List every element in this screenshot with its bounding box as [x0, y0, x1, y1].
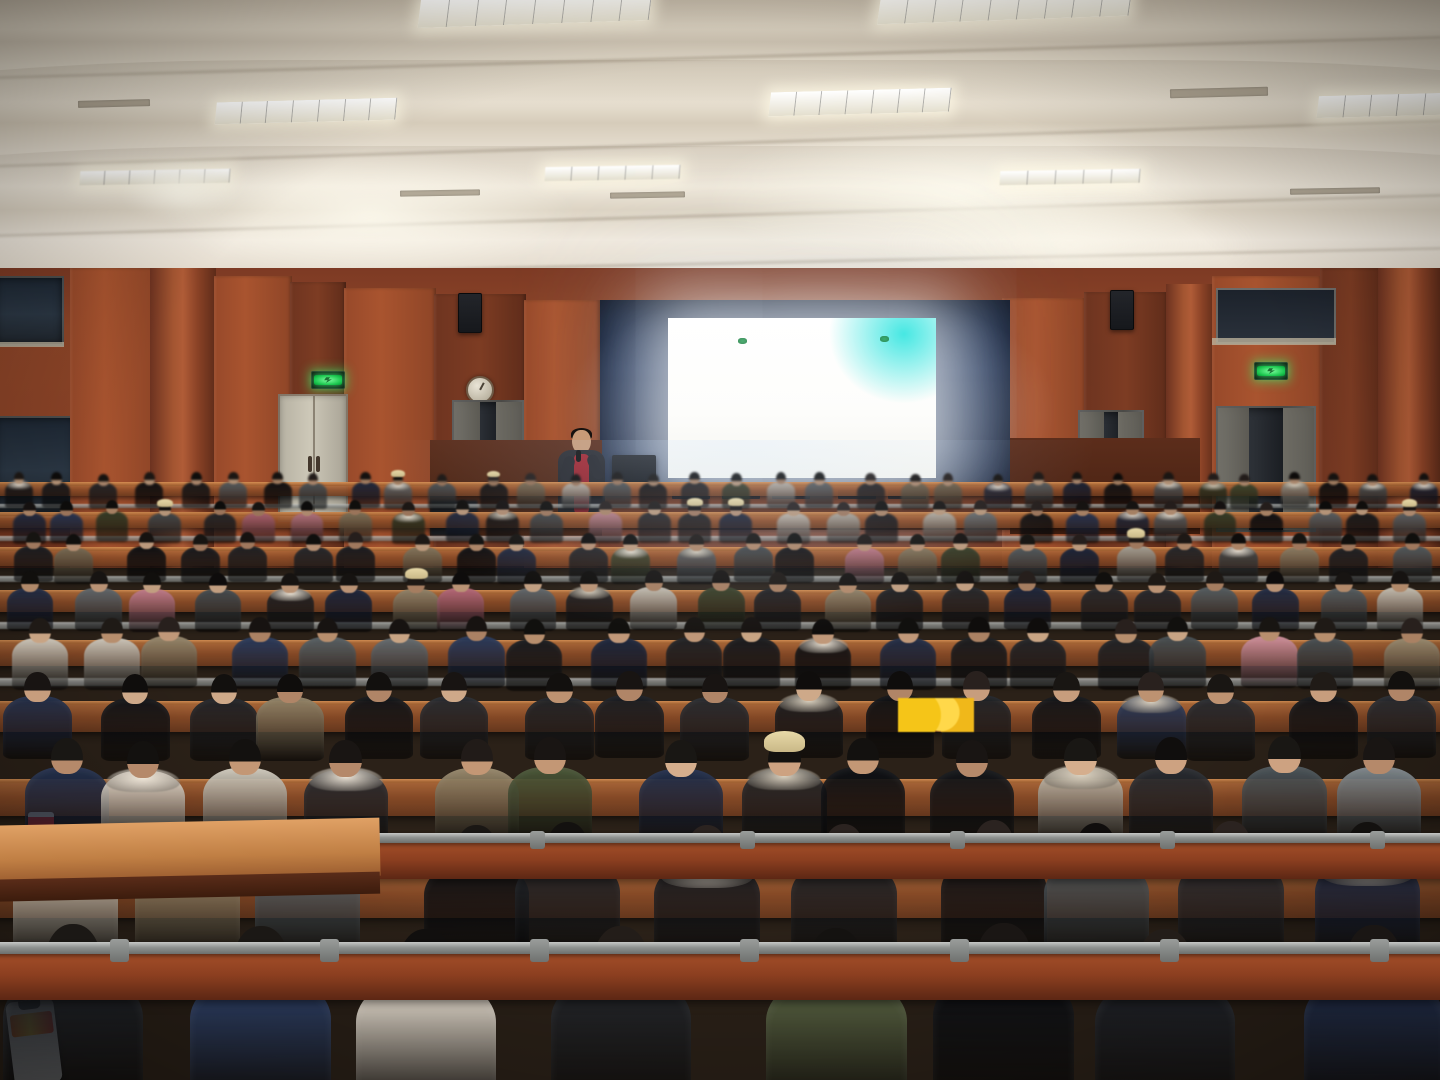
- audience-member-head: [281, 573, 299, 593]
- audience-member-head: [26, 532, 41, 549]
- audience-member-head: [277, 674, 303, 704]
- ceiling-light-fixture: [544, 165, 680, 181]
- ceiling-light-fixture: [1316, 92, 1440, 118]
- audience-member-head: [389, 619, 411, 643]
- yellow-fur-hood-trim: [898, 698, 974, 732]
- audience-member-body: [1250, 513, 1283, 543]
- audience-member-head: [1115, 619, 1137, 643]
- audience-member-head: [1072, 534, 1087, 551]
- audience-member-head: [847, 738, 879, 775]
- rail-bracket: [530, 831, 545, 849]
- wall-speaker-left-icon: [458, 293, 482, 333]
- audience-member-body: [1191, 587, 1238, 630]
- audience-member-body: [530, 513, 563, 543]
- audience-member-body: [630, 587, 677, 630]
- audience-member-head: [329, 740, 361, 777]
- audience-member-head: [1064, 738, 1096, 775]
- audience-member-head: [993, 474, 1004, 486]
- audience-member-head: [910, 534, 925, 551]
- bucket-hat: [687, 498, 703, 506]
- window-sill: [0, 342, 64, 347]
- bucket-hat: [1127, 528, 1146, 538]
- audience-member-head: [540, 501, 553, 515]
- audience-member-head: [317, 618, 339, 642]
- audience-member-head: [623, 534, 638, 551]
- audience-member-head: [956, 740, 988, 777]
- audience-member-head: [787, 533, 802, 550]
- audience-member-head: [1239, 474, 1250, 486]
- desk-top-surface: [0, 640, 1440, 644]
- audience-member-body: [264, 482, 292, 508]
- audience-member-head: [509, 534, 524, 551]
- audience-member-head: [616, 671, 642, 701]
- audience-member-body: [754, 588, 801, 631]
- audience-member-head: [29, 618, 51, 642]
- audience-member-head: [306, 534, 321, 551]
- audience-member-head: [684, 617, 706, 641]
- audience-member-head: [769, 572, 787, 592]
- audience-member-body: [698, 587, 745, 630]
- audience-member-head: [1138, 672, 1164, 702]
- bucket-hat: [1402, 499, 1418, 507]
- audience-member-head: [1148, 573, 1166, 593]
- audience-member-head: [648, 501, 661, 515]
- audience-member-head: [1177, 533, 1192, 550]
- bucket-hat: [487, 471, 500, 478]
- audience-member-body: [228, 546, 267, 582]
- ceiling: [0, 0, 1440, 300]
- audience-member-head: [143, 572, 161, 592]
- audience-member-head: [1126, 501, 1139, 515]
- audience-member-head: [933, 501, 946, 515]
- rail-bracket: [110, 939, 129, 962]
- audience-member-body: [901, 483, 929, 509]
- audience-member-body: [141, 636, 197, 688]
- audience-member-head: [158, 617, 180, 641]
- audience-member-head: [839, 573, 857, 593]
- audience-member-head: [249, 617, 271, 641]
- rail-bracket: [950, 831, 965, 849]
- audience-member-head: [524, 619, 546, 643]
- audience-member-head: [456, 500, 469, 514]
- audience-member-head: [648, 474, 659, 486]
- audience-member-head: [301, 501, 314, 515]
- audience-member-head: [712, 570, 730, 590]
- audience-member-head: [127, 741, 159, 778]
- audience-member-head: [891, 572, 909, 592]
- audience-member-head: [1419, 473, 1430, 485]
- audience-member-head: [645, 570, 663, 590]
- audience-member-head: [1031, 501, 1044, 515]
- audience-member-head: [240, 532, 255, 549]
- screen-logo-marker: [738, 338, 747, 344]
- bucket-hat: [391, 470, 404, 477]
- audience-member-head: [496, 500, 509, 514]
- audience-member-body: [1309, 512, 1342, 542]
- wall-speaker-right-icon: [1110, 290, 1134, 330]
- audience-member-head: [1260, 502, 1273, 516]
- audience-member-head: [1155, 737, 1187, 774]
- audience-member-head: [1266, 571, 1284, 591]
- rail-bracket: [1160, 831, 1175, 849]
- audience-member-head: [1405, 533, 1420, 550]
- audience-member-body: [1230, 484, 1258, 510]
- audience-member-head: [1164, 501, 1177, 515]
- audience-member-head: [875, 501, 888, 515]
- audience-member-head: [689, 534, 704, 551]
- screen-logo-marker: [880, 336, 889, 342]
- audience-member-head: [437, 474, 448, 486]
- audience-member-head: [898, 618, 920, 642]
- exit-pictogram-icon: [1257, 366, 1285, 376]
- audience-member-head: [796, 671, 822, 701]
- audience-member-head: [415, 534, 430, 551]
- audience-member-head: [1292, 533, 1307, 550]
- audience-member-head: [1363, 737, 1395, 774]
- audience-member-head: [746, 533, 761, 550]
- audience-member-body: [1280, 547, 1319, 583]
- audience-member-head: [21, 571, 39, 591]
- audience-member-head: [956, 571, 974, 591]
- audience-member-head: [466, 616, 488, 640]
- audience-member-head: [525, 473, 536, 485]
- audience-member-head: [546, 673, 572, 703]
- exit-sign: [311, 371, 345, 389]
- audience-member-head: [865, 473, 876, 485]
- audience-member-body: [256, 697, 325, 760]
- audience-member-head: [51, 472, 62, 484]
- audience-member-head: [741, 617, 763, 641]
- ceiling-light-fixture: [999, 169, 1140, 185]
- bucket-hat: [764, 731, 804, 752]
- audience-member-head: [402, 502, 415, 516]
- audience-member-body: [204, 513, 237, 543]
- audience-member-head: [1391, 571, 1409, 591]
- audience-member-body: [299, 637, 355, 689]
- bench-back: [0, 950, 1440, 1000]
- rail-bracket: [1370, 939, 1389, 962]
- rail-bracket: [530, 939, 549, 962]
- bucket-hat: [157, 499, 173, 507]
- audience-member-body: [1060, 548, 1099, 584]
- exit-pictogram-icon: [314, 375, 342, 385]
- rail-bracket: [740, 831, 755, 849]
- audience-member-body: [723, 637, 779, 689]
- audience-member-body: [294, 547, 333, 583]
- audience-member-head: [974, 500, 987, 514]
- audience-member-head: [51, 738, 83, 775]
- audience-member-head: [193, 534, 208, 551]
- audience-member-head: [1167, 617, 1189, 641]
- audience-member-head: [814, 472, 825, 484]
- rail-bracket: [950, 939, 969, 962]
- audience-member-head: [580, 571, 598, 591]
- audience-member-head: [968, 617, 990, 641]
- audience-member-head: [943, 473, 954, 485]
- audience-member-head: [1207, 674, 1233, 704]
- audience-member-head: [963, 671, 989, 701]
- audience-member-head: [1259, 617, 1281, 641]
- seating-area: [0, 470, 1440, 1080]
- audience-member-head: [1027, 618, 1049, 642]
- ceiling-light-fixture: [768, 88, 951, 117]
- audience-member-head: [731, 473, 742, 485]
- rail-bracket: [320, 939, 339, 962]
- audience-member-body: [1242, 766, 1326, 844]
- audience-member-head: [1388, 671, 1414, 701]
- audience-member-head: [1319, 501, 1332, 515]
- audience-member-head: [910, 474, 921, 486]
- audience-member-head: [441, 672, 467, 702]
- audience-member-body: [182, 482, 210, 508]
- audience-member-body: [1165, 546, 1204, 582]
- audience-member-head: [469, 534, 484, 551]
- audience-member-body: [595, 695, 664, 758]
- audience-member-head: [23, 502, 36, 516]
- exit-sign: [1254, 362, 1288, 380]
- audience-member-body: [1186, 698, 1255, 761]
- audience-member-body: [1241, 636, 1297, 688]
- bucket-hat: [405, 568, 427, 579]
- audience-member-head: [139, 532, 154, 549]
- projection-screen: [668, 318, 936, 478]
- window-sill: [1212, 338, 1336, 345]
- audience-member-head: [98, 474, 109, 486]
- audience-member-head: [1231, 533, 1246, 550]
- audience-member-head: [340, 573, 358, 593]
- audience-member-head: [272, 472, 283, 484]
- audience-member-head: [1053, 672, 1079, 702]
- audience-member-head: [534, 737, 566, 774]
- audience-member-head: [887, 671, 913, 701]
- audience-member-head: [452, 572, 470, 592]
- audience-member-body: [964, 512, 997, 542]
- audience-member-head: [581, 533, 596, 550]
- audience-member-head: [101, 618, 123, 642]
- audience-member-head: [1018, 571, 1036, 591]
- audience-member-head: [1401, 618, 1423, 642]
- audience-member-head: [144, 472, 155, 484]
- audience-member-head: [1289, 472, 1300, 484]
- bucket-hat: [728, 498, 744, 506]
- audience-member-head: [229, 739, 261, 776]
- audience-member-head: [191, 472, 202, 484]
- audience-member-head: [608, 618, 630, 642]
- audience-member-head: [1341, 534, 1356, 551]
- auditorium-photo: [0, 0, 1440, 1080]
- audience-member-body: [638, 512, 671, 542]
- audience-member-head: [122, 674, 148, 704]
- audience-member-head: [228, 472, 239, 484]
- upper-window-left: [0, 276, 64, 346]
- audience-member-head: [90, 571, 108, 591]
- audience-member-head: [787, 502, 800, 516]
- audience-member-head: [1335, 572, 1353, 592]
- audience-member-body: [827, 513, 860, 543]
- audience-member-head: [812, 619, 834, 643]
- audience-member-head: [1095, 572, 1113, 592]
- audience-member-head: [665, 740, 697, 777]
- audience-member-head: [1214, 501, 1227, 515]
- audience-member-head: [209, 573, 227, 593]
- rail-bracket: [1370, 831, 1385, 849]
- audience-member-head: [1268, 736, 1300, 773]
- audience-member-head: [837, 502, 850, 516]
- audience-member-head: [1208, 473, 1219, 485]
- audience-member-body: [54, 548, 93, 584]
- rail-bracket: [1160, 939, 1179, 962]
- audience-member-head: [211, 674, 237, 704]
- audience-member-head: [1076, 501, 1089, 515]
- rail-bracket: [740, 939, 759, 962]
- audience-member-head: [348, 532, 363, 549]
- audience-member-head: [1033, 472, 1044, 484]
- audience-member-body: [805, 482, 833, 508]
- audience-member-body: [562, 483, 590, 509]
- audience-member-head: [360, 472, 371, 484]
- audience-member-head: [60, 501, 73, 515]
- audience-member-head: [702, 674, 728, 704]
- audience-member-head: [24, 672, 50, 702]
- audience-member-head: [857, 534, 872, 551]
- audience-member-head: [612, 472, 623, 484]
- audience-member-head: [1328, 473, 1339, 485]
- audience-member-body: [428, 483, 456, 509]
- audience-member-head: [1367, 474, 1378, 486]
- audience-member-body: [96, 511, 129, 541]
- audience-member-head: [599, 501, 612, 515]
- audience-member-head: [1206, 571, 1224, 591]
- microphone-icon: [576, 450, 581, 462]
- audience-member-head: [1314, 618, 1336, 642]
- audience-member-head: [252, 502, 265, 516]
- audience-member-body: [734, 546, 773, 582]
- audience-member-head: [1310, 672, 1336, 702]
- audience-member-head: [366, 672, 392, 702]
- audience-member-body: [195, 589, 242, 632]
- transom-window: [1216, 288, 1336, 344]
- audience-member-head: [571, 474, 582, 486]
- audience-member-head: [461, 739, 493, 776]
- audience-member-body: [923, 512, 956, 542]
- audience-member-head: [1020, 534, 1035, 551]
- audience-member-head: [349, 500, 362, 514]
- bench-handrail: [0, 942, 1440, 954]
- audience-member-head: [953, 533, 968, 550]
- audience-member-head: [524, 571, 542, 591]
- audience-member-head: [1163, 472, 1174, 484]
